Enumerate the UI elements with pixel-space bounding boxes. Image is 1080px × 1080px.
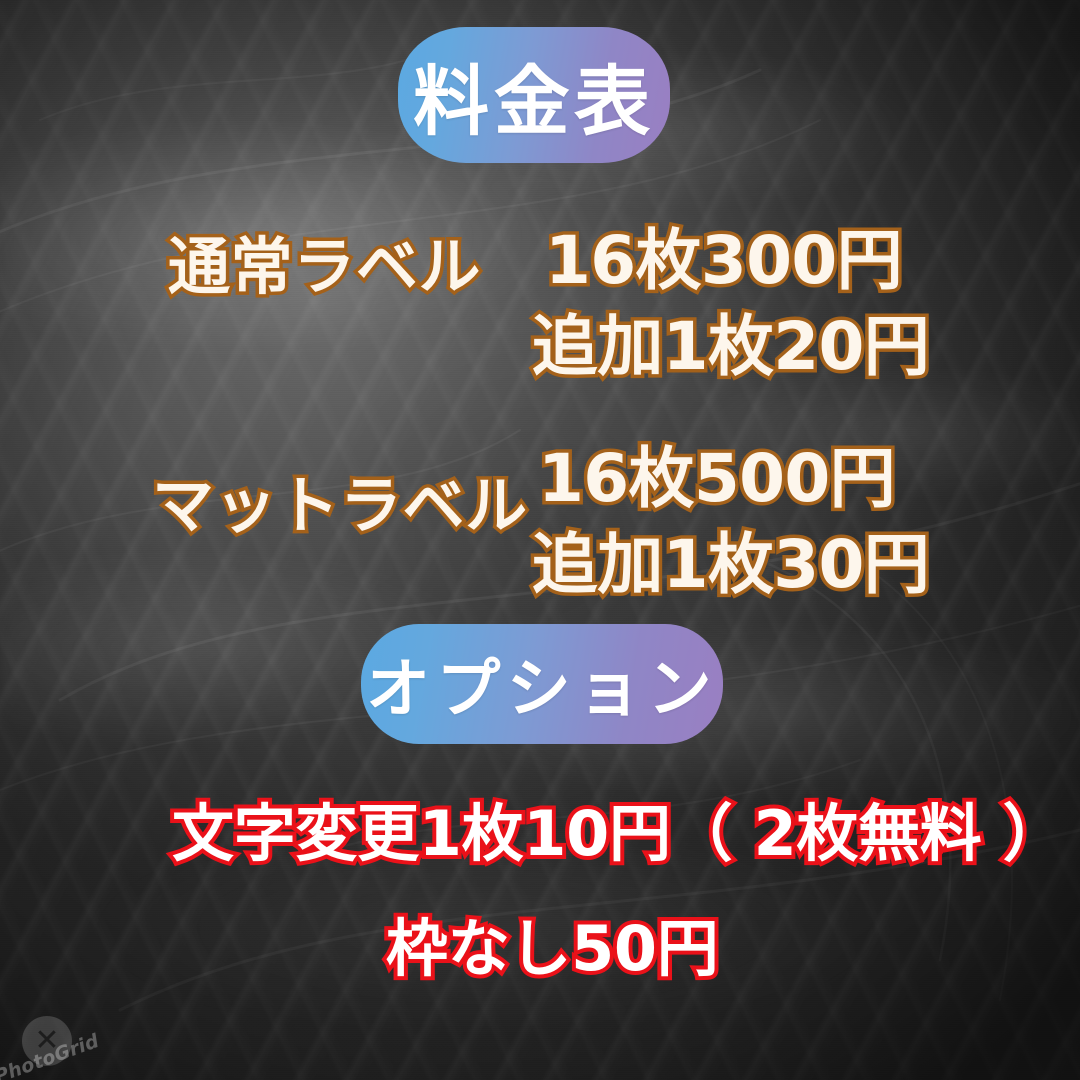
price-standard-base: 16枚300円 bbox=[545, 207, 902, 303]
options-heading: オプション bbox=[361, 624, 723, 744]
sign-content: 料金表 通常ラベル 16枚300円 追加1枚20円 マットラベル 16枚500円… bbox=[0, 0, 1080, 1080]
product-label-matte: マットラベル bbox=[152, 455, 528, 545]
product-label-standard: 通常ラベル bbox=[168, 216, 481, 306]
option-text-change: 文字変更1枚10円（ 2枚無料 ） bbox=[172, 783, 1064, 873]
option-no-frame: 枠なし50円 bbox=[386, 898, 718, 988]
page-title: 料金表 bbox=[398, 27, 670, 163]
price-matte-base: 16枚500円 bbox=[538, 425, 895, 521]
price-standard-additional: 追加1枚20円 bbox=[532, 293, 929, 389]
price-list-image: 料金表 通常ラベル 16枚300円 追加1枚20円 マットラベル 16枚500円… bbox=[0, 0, 1080, 1080]
price-matte-additional: 追加1枚30円 bbox=[532, 511, 929, 607]
